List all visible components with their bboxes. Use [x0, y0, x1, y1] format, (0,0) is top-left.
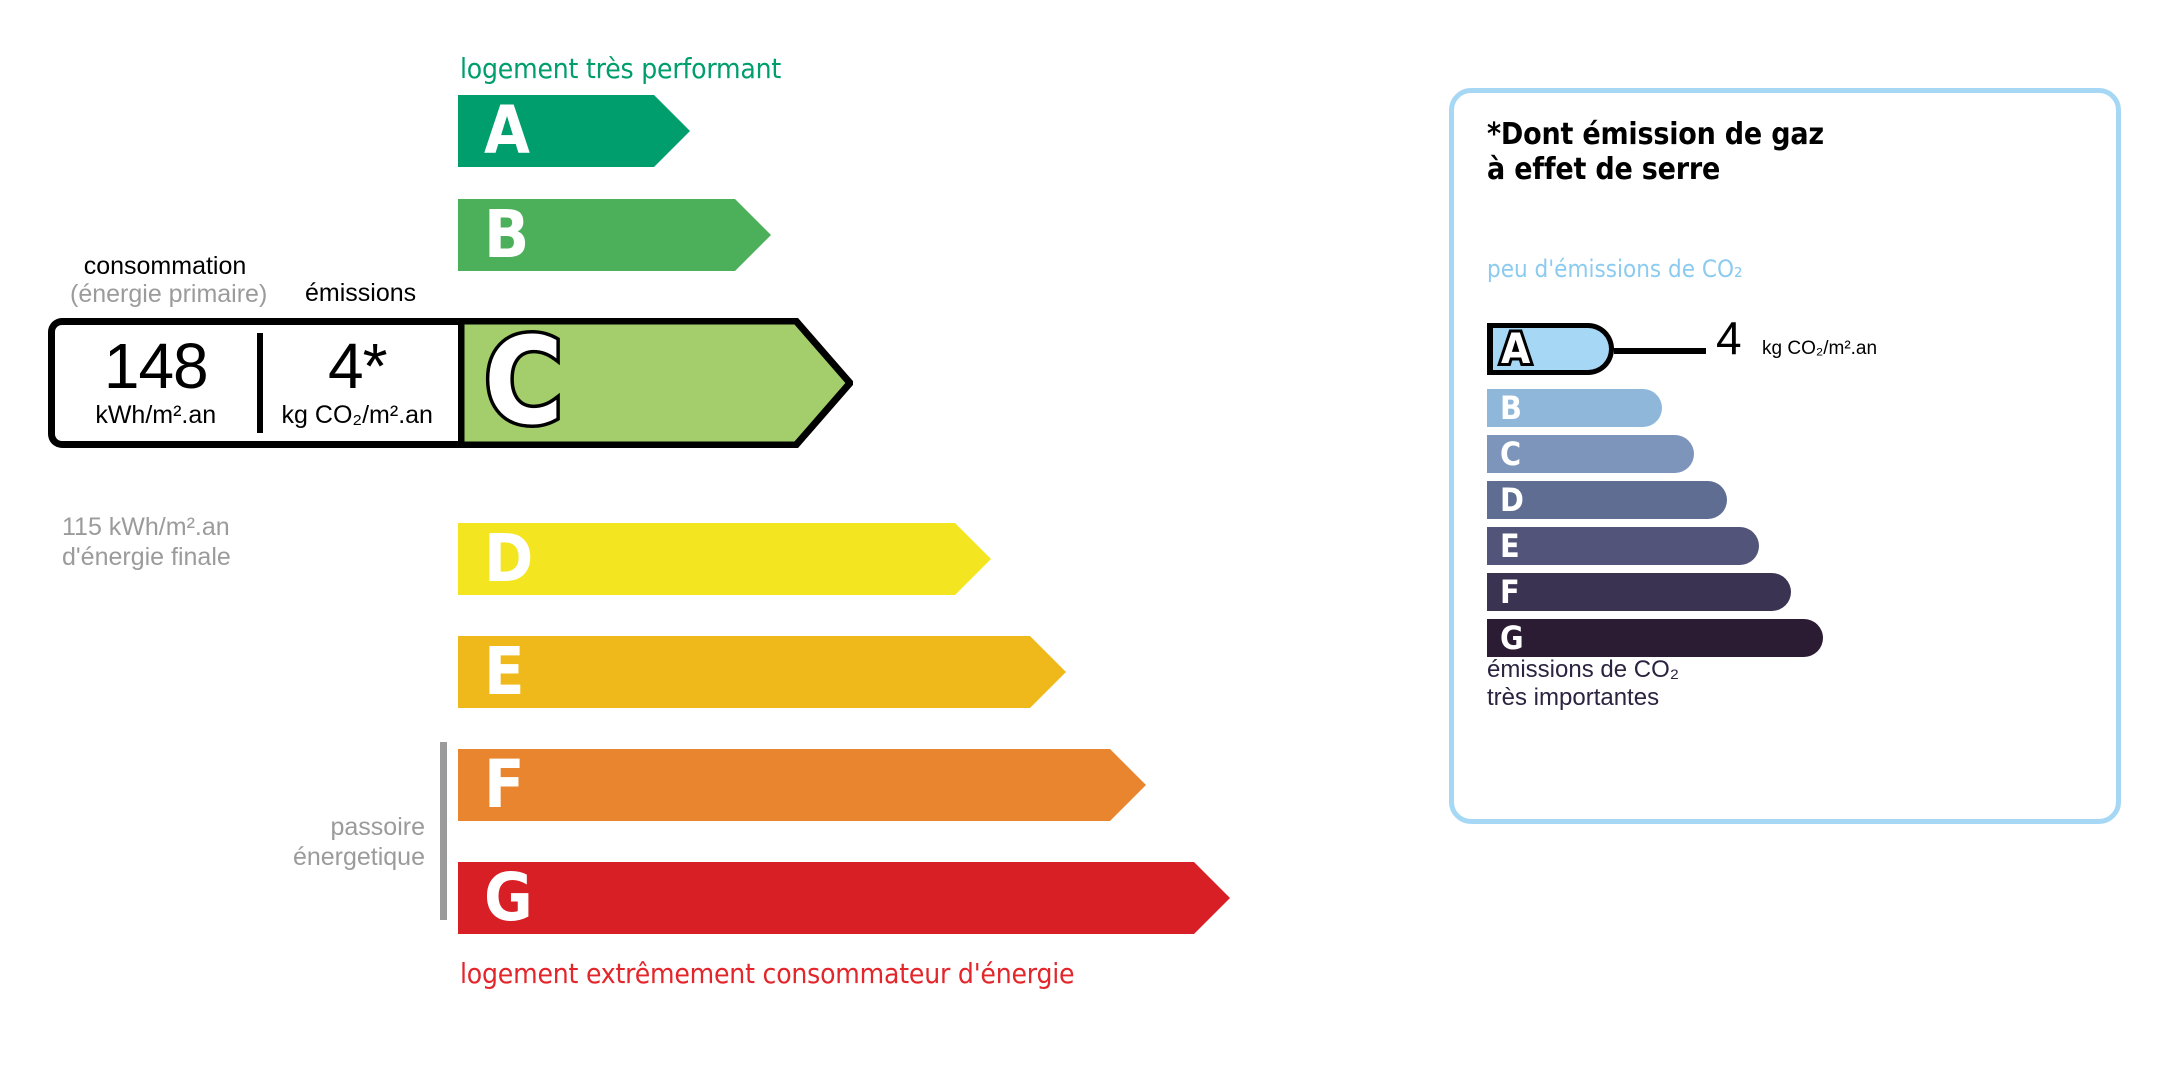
emission-value: 4* — [328, 336, 387, 397]
consumption-value-cell: 148 kWh/m².an — [55, 325, 257, 441]
energy-bar-letter: E — [484, 639, 525, 705]
emission-unit: kg CO₂/m².an — [282, 401, 433, 430]
energy-bar-c-selected[interactable]: C — [458, 318, 853, 448]
co2-leader-line — [1614, 348, 1706, 354]
co2-bar-letter: D — [1500, 484, 1524, 516]
consumption-header-line1: consommation — [70, 252, 260, 280]
worst-performance-label: logement extrêmement consommateur d'éner… — [460, 957, 1074, 990]
co2-bar-letter: A — [1501, 328, 1530, 370]
co2-value-unit: kg CO₂/m².an — [1762, 338, 1877, 360]
final-energy-note: 115 kWh/m².an d'énergie finale — [62, 512, 231, 572]
co2-bar-f[interactable]: F — [1487, 573, 1791, 611]
emission-value-cell: 4* kg CO₂/m².an — [257, 325, 459, 441]
energy-bar-letter: A — [484, 98, 530, 164]
dpe-energy-label: logement très performant A B — [0, 0, 2169, 1079]
energy-bar-g[interactable]: G — [458, 862, 1230, 934]
energy-bar-b[interactable]: B — [458, 199, 771, 271]
energy-bar-a[interactable]: A — [458, 95, 690, 167]
co2-bar-letter: F — [1500, 576, 1520, 608]
emissions-header: émissions — [305, 279, 416, 307]
co2-bar-letter: G — [1500, 622, 1524, 654]
energy-bar-f[interactable]: F — [458, 749, 1146, 821]
co2-bar-g[interactable]: G — [1487, 619, 1823, 657]
consumption-value: 148 — [104, 336, 208, 397]
arrow-shape-icon — [458, 749, 1146, 821]
energy-bar-letter: B — [484, 202, 529, 268]
co2-worst-label-line1: émissions de CO₂ — [1487, 656, 1679, 684]
consumption-header: consommation (énergie primaire) — [70, 252, 260, 308]
arrow-shape-icon — [458, 862, 1230, 934]
co2-best-label: peu d'émissions de CO₂ — [1487, 255, 1743, 283]
co2-bar-e[interactable]: E — [1487, 527, 1759, 565]
best-performance-label: logement très performant — [460, 52, 781, 85]
co2-emissions-panel: *Dont émission de gaz à effet de serre p… — [1449, 88, 2121, 824]
final-energy-line2: d'énergie finale — [62, 542, 231, 572]
co2-panel-title-line2: à effet de serre — [1487, 153, 1824, 188]
co2-bar-a-selected[interactable]: A — [1487, 323, 1614, 375]
co2-bar-c[interactable]: C — [1487, 435, 1694, 473]
co2-value: 4 — [1716, 315, 1741, 361]
passoire-bracket — [440, 742, 447, 920]
consumption-unit: kWh/m².an — [95, 401, 216, 430]
co2-bar-letter: C — [1500, 438, 1521, 470]
arrow-shape-icon — [458, 636, 1066, 708]
passoire-label-line2: énergetique — [200, 842, 425, 872]
energy-bar-letter: F — [484, 752, 525, 818]
energy-bar-letter: D — [484, 526, 533, 592]
energy-bar-letter: C — [484, 323, 563, 443]
co2-worst-label-line2: très importantes — [1487, 684, 1679, 712]
passoire-label-line1: passoire — [200, 812, 425, 842]
co2-worst-label: émissions de CO₂ très importantes — [1487, 656, 1679, 712]
energy-consumption-scale: logement très performant A B — [0, 0, 1380, 1079]
co2-bar-d[interactable]: D — [1487, 481, 1727, 519]
rating-value-box: 148 kWh/m².an 4* kg CO₂/m².an — [48, 318, 458, 448]
final-energy-line1: 115 kWh/m².an — [62, 512, 231, 542]
co2-bar-b[interactable]: B — [1487, 389, 1662, 427]
co2-bar-letter: B — [1500, 392, 1522, 424]
consumption-header-line2: (énergie primaire) — [70, 280, 260, 308]
co2-panel-title: *Dont émission de gaz à effet de serre — [1487, 118, 1824, 188]
energy-bar-letter: G — [484, 865, 533, 931]
arrow-shape-icon — [458, 523, 991, 595]
energy-bar-e[interactable]: E — [458, 636, 1066, 708]
co2-bar-letter: E — [1500, 530, 1520, 562]
co2-panel-title-line1: *Dont émission de gaz — [1487, 118, 1824, 153]
energy-bar-d[interactable]: D — [458, 523, 991, 595]
passoire-label: passoire énergetique — [200, 812, 425, 872]
